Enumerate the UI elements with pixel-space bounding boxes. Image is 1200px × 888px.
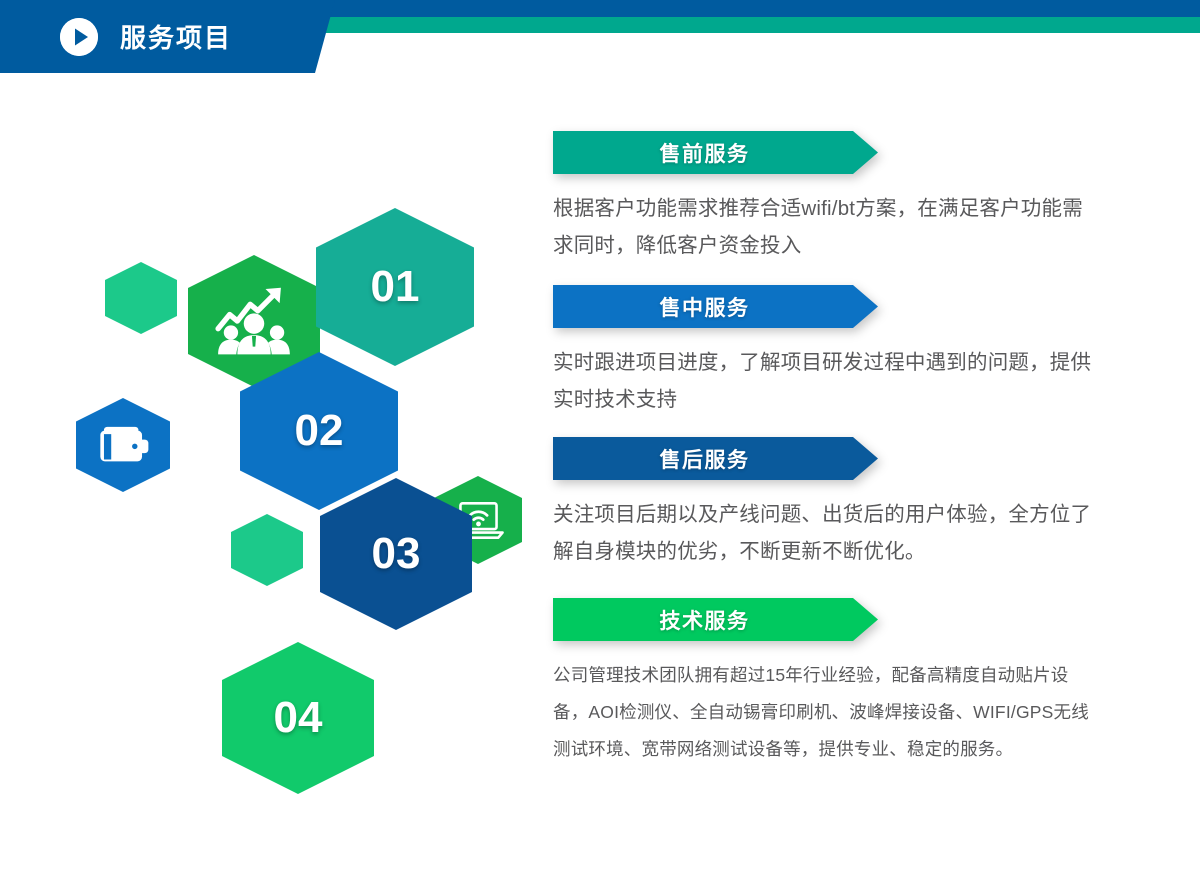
hexagon-cluster: 01020304 — [0, 80, 540, 888]
service-description: 关注项目后期以及产线问题、出货后的用户体验，全方位了解自身模块的优劣，不断更新不… — [553, 496, 1098, 570]
service-block-pre-sales: 售前服务根据客户功能需求推荐合适wifi/bt方案，在满足客户功能需求同时，降低… — [553, 131, 1098, 264]
banner-arrow-shape: 售后服务 — [553, 437, 878, 480]
team-growth-icon — [213, 280, 295, 362]
service-block-technical: 技术服务公司管理技术团队拥有超过15年行业经验，配备高精度自动贴片设备，AOI检… — [553, 598, 1093, 768]
page-header: 服务项目 — [0, 0, 1200, 80]
play-icon — [60, 18, 98, 56]
service-banner-technical[interactable]: 技术服务 — [553, 598, 878, 641]
service-block-in-sales: 售中服务实时跟进项目进度，了解项目研发过程中遇到的问题，提供实时技术支持 — [553, 285, 1098, 418]
service-title: 售中服务 — [660, 292, 750, 322]
banner-arrow-shape: 售中服务 — [553, 285, 878, 328]
hex-number-04[interactable]: 04 — [222, 642, 374, 794]
hexagon-number-label: 04 — [274, 693, 323, 743]
service-title: 售后服务 — [660, 444, 750, 474]
service-banner-in-sales[interactable]: 售中服务 — [553, 285, 878, 328]
hex-icon-wallet[interactable] — [76, 398, 170, 492]
service-description: 公司管理技术团队拥有超过15年行业经验，配备高精度自动贴片设备，AOI检测仪、全… — [553, 657, 1093, 768]
banner-arrow-shape: 售前服务 — [553, 131, 878, 174]
hexagon-number-label: 03 — [372, 529, 421, 579]
banner-arrow-shape: 技术服务 — [553, 598, 878, 641]
service-description: 根据客户功能需求推荐合适wifi/bt方案，在满足客户功能需求同时，降低客户资金… — [553, 190, 1098, 264]
service-block-after-sales: 售后服务关注项目后期以及产线问题、出货后的用户体验，全方位了解自身模块的优劣，不… — [553, 437, 1098, 570]
hexagon-number-label: 02 — [295, 406, 344, 456]
wallet-icon — [94, 416, 152, 474]
service-description: 实时跟进项目进度，了解项目研发过程中遇到的问题，提供实时技术支持 — [553, 344, 1098, 418]
header-content: 服务项目 — [0, 0, 232, 73]
service-banner-after-sales[interactable]: 售后服务 — [553, 437, 878, 480]
service-title: 售前服务 — [660, 138, 750, 168]
service-banner-pre-sales[interactable]: 售前服务 — [553, 131, 878, 174]
hexagon-number-label: 01 — [371, 262, 420, 312]
hex-number-01[interactable]: 01 — [316, 208, 474, 366]
hex-small-green-mid[interactable] — [231, 514, 303, 586]
page-title: 服务项目 — [120, 18, 232, 55]
service-title: 技术服务 — [660, 605, 750, 635]
hex-small-green-top[interactable] — [105, 262, 177, 334]
